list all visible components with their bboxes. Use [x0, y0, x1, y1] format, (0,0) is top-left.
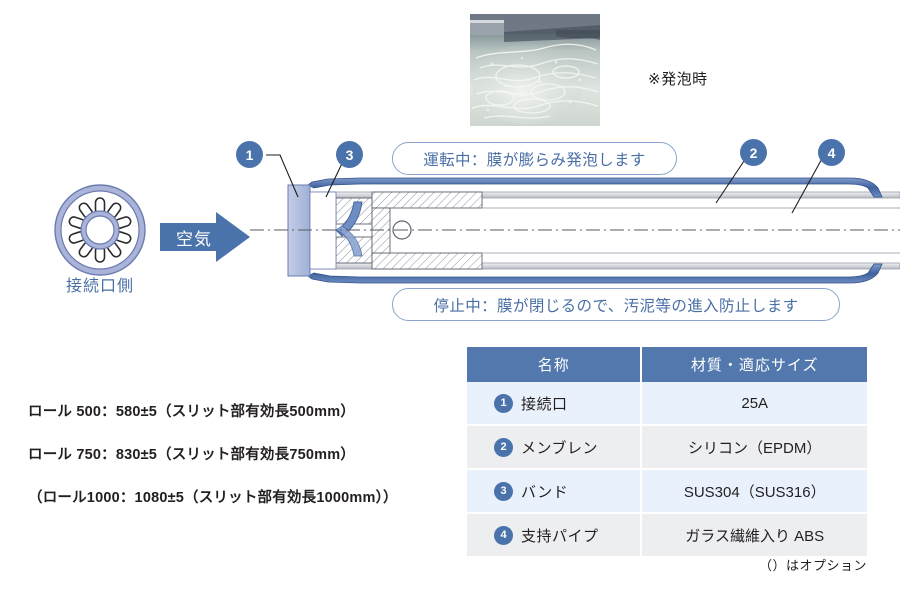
table-cell-name: 4 支持パイプ [467, 513, 641, 557]
table-header-row: 名称 材質・適応サイズ [467, 347, 867, 382]
callout-running-state: 運転中：膜が膨らみ発泡します [392, 142, 677, 175]
row-badge-1: 1 [494, 394, 513, 413]
dimension-spec-list: ロール 500：580±5（スリット部有効長500mm） ロール 750：830… [28, 400, 448, 507]
connector-side-label: 接続口側 [50, 272, 150, 296]
callout-stopped-state: 停止中：膜が閉じるので、汚泥等の進入防止します [392, 288, 840, 321]
row-name-label: バンド [521, 481, 568, 502]
row-name-label: 支持パイプ [521, 525, 599, 546]
callout-badge-1: 1 [236, 141, 263, 168]
table-header-material: 材質・適応サイズ [641, 347, 867, 382]
table-row: 2 メンブレン シリコン（EPDM） [467, 425, 867, 469]
connector-ring-icon [52, 182, 148, 278]
aeration-foam-photo [470, 14, 600, 126]
table-row: 4 支持パイプ ガラス繊維入り ABS [467, 513, 867, 557]
table-cell-name: 2 メンブレン [467, 425, 641, 469]
table-header-name: 名称 [467, 347, 641, 382]
row-badge-4: 4 [494, 526, 513, 545]
air-label: 空気 [176, 225, 212, 250]
material-spec-table: 名称 材質・適応サイズ 1 接続口 25A 2 メンブレン [467, 347, 867, 558]
foam-photo-image [470, 14, 600, 126]
table-cell-material: シリコン（EPDM） [641, 425, 867, 469]
table-cell-name: 1 接続口 [467, 382, 641, 425]
table-cell-material: ガラス繊維入り ABS [641, 513, 867, 557]
row-badge-2: 2 [494, 438, 513, 457]
photo-caption: ※発泡時 [648, 68, 708, 89]
table-row: 3 バンド SUS304（SUS316） [467, 469, 867, 513]
spec-line-roll1000: （ロール1000：1080±5（スリット部有効長1000mm）） [28, 486, 448, 507]
row-name-label: 接続口 [521, 393, 568, 414]
table-row: 1 接続口 25A [467, 382, 867, 425]
row-name-label: メンブレン [521, 437, 598, 458]
table-cell-material: SUS304（SUS316） [641, 469, 867, 513]
callout-badge-3: 3 [336, 141, 363, 168]
row-badge-3: 3 [494, 482, 513, 501]
callout-badge-4: 4 [818, 139, 845, 166]
spec-line-roll500: ロール 500：580±5（スリット部有効長500mm） [28, 400, 448, 421]
table-cell-name: 3 バンド [467, 469, 641, 513]
callout-badge-2: 2 [740, 139, 767, 166]
table-cell-material: 25A [641, 382, 867, 425]
spec-line-roll750: ロール 750：830±5（スリット部有効長750mm） [28, 443, 448, 464]
table-footnote: （）はオプション [467, 555, 867, 574]
